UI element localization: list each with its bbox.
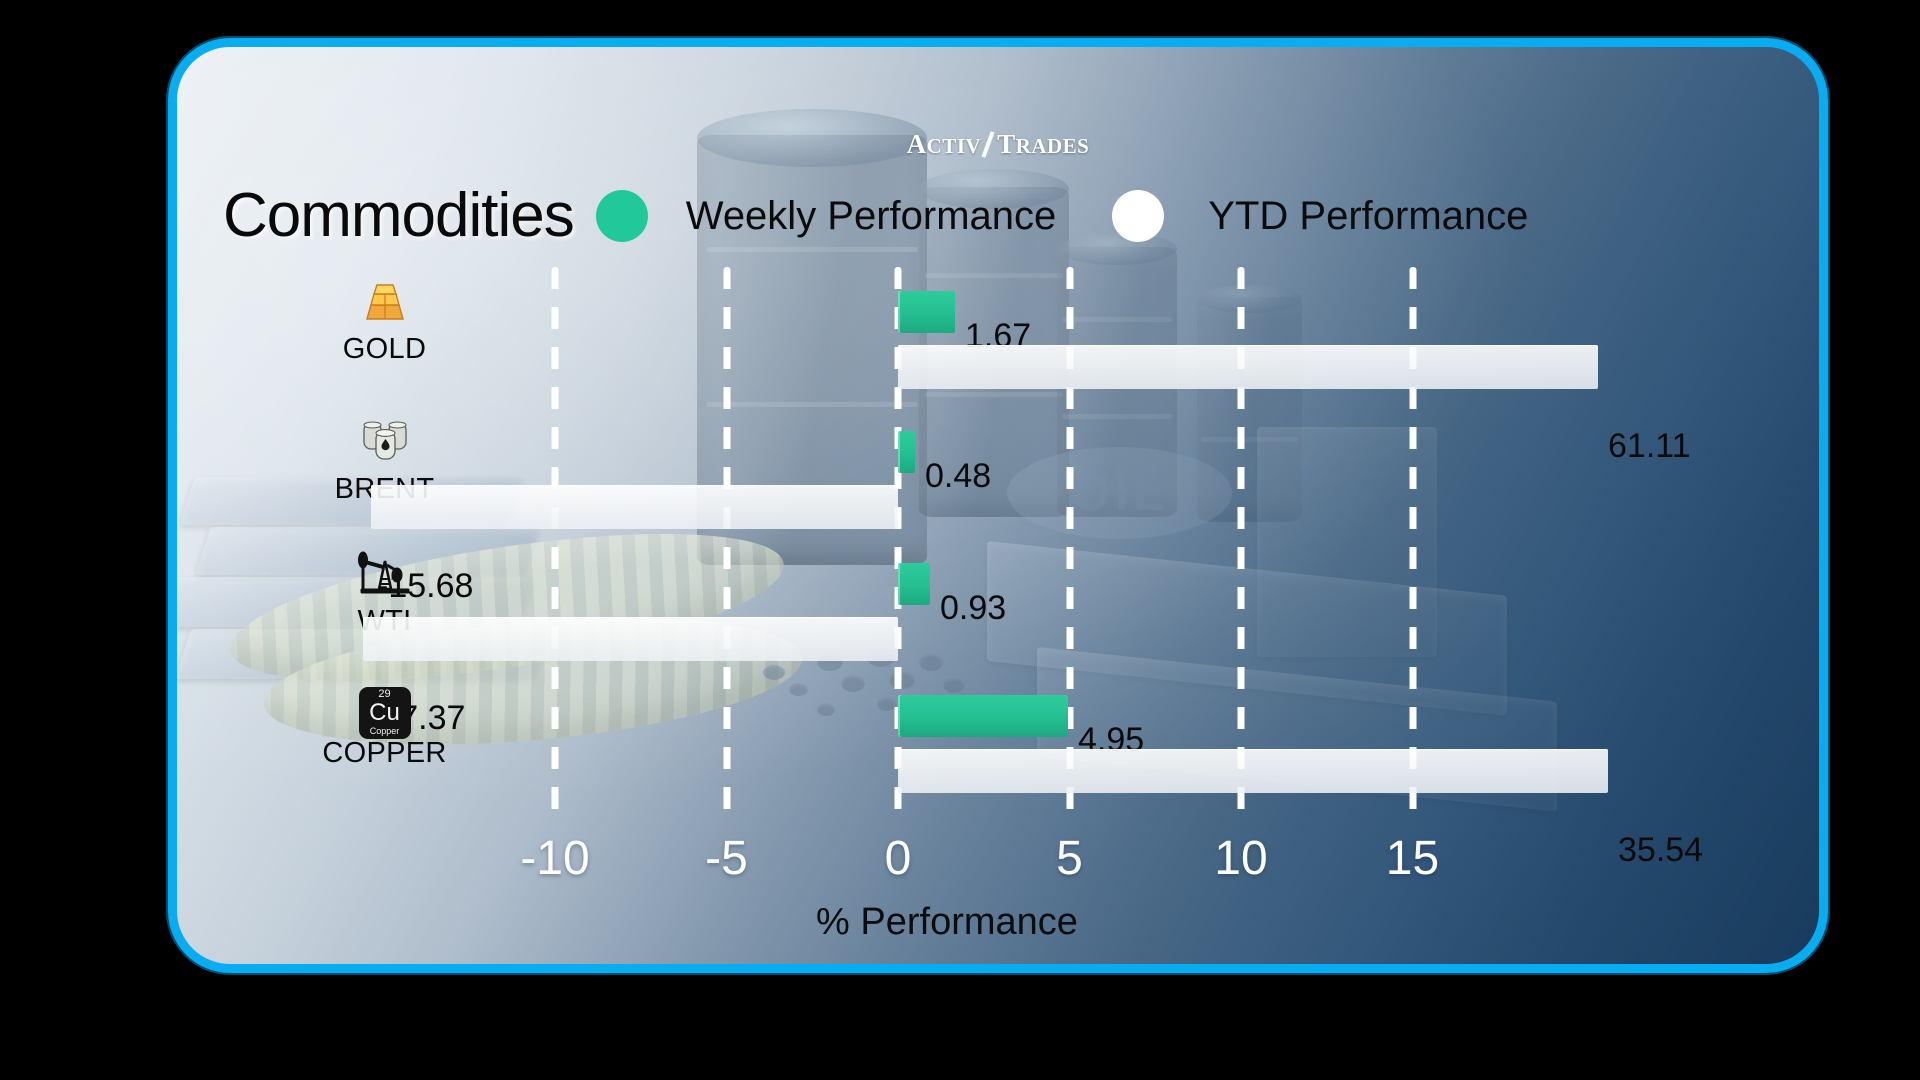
bar-weekly-wti[interactable]: 0.93	[898, 563, 930, 605]
commodities-performance-card: OIL A	[168, 38, 1828, 973]
row-label-copper: 29 Cu Copper COPPER	[277, 681, 492, 768]
oil-pump-svg	[357, 549, 413, 595]
chart-row-brent: BRENT 0.48 -15.68	[177, 407, 1819, 547]
bar-ytd-brent[interactable]: -15.68	[371, 485, 898, 529]
row-label-gold: GOLD	[277, 277, 492, 364]
legend-item-ytd[interactable]: YTD Performance	[1056, 190, 1528, 242]
oil-barrels-svg	[359, 417, 411, 463]
x-tick-10: 10	[1214, 835, 1267, 883]
logo-text-rades: RADES	[1016, 134, 1090, 158]
activtrades-logo: ACTIVTRADES	[177, 131, 1819, 158]
page-title: Commodities	[223, 185, 574, 247]
x-axis-label: % Performance	[177, 903, 1717, 941]
bar-weekly-brent[interactable]: 0.48	[898, 431, 915, 473]
bar-ytd-gold[interactable]: 61.11	[898, 345, 1598, 389]
bar-weekly-gold[interactable]: 1.67	[898, 291, 955, 333]
legend-item-weekly[interactable]: Weekly Performance	[574, 190, 1057, 242]
gold-bars-icon	[277, 277, 492, 333]
row-name-gold: GOLD	[277, 335, 492, 364]
logo-letter-t: T	[997, 129, 1016, 159]
row-name-copper: COPPER	[277, 739, 492, 768]
chart-header: Commodities Weekly Performance YTD Perfo…	[177, 185, 1819, 247]
oil-pump-icon	[277, 549, 492, 605]
chart-row-wti: WTI 0.93 -17.37	[177, 539, 1819, 679]
chart-row-gold: GOLD 1.67 61.11	[177, 267, 1819, 407]
legend-label-ytd: YTD Performance	[1208, 196, 1528, 236]
screenshot-stage: OIL A	[0, 0, 1920, 1080]
copper-element-icon: 29 Cu Copper	[277, 681, 492, 737]
x-axis-ticks: -10-5051015	[177, 835, 1819, 897]
copper-symbol: Cu	[359, 701, 411, 725]
x-tick-neg5: -5	[705, 835, 748, 883]
bar-ytd-copper[interactable]: 35.54	[898, 749, 1608, 793]
bar-value-weekly-brent: 0.48	[925, 459, 991, 493]
chart-row-copper: 29 Cu Copper COPPER 4.95 35.54	[177, 671, 1819, 811]
logo-text-ctiv: CTIV	[927, 134, 982, 158]
logo-letter-a: A	[907, 129, 927, 159]
gold-bars-svg	[359, 281, 411, 321]
x-tick-neg10: -10	[520, 835, 589, 883]
bar-ytd-wti[interactable]: -17.37	[363, 617, 898, 661]
legend-label-weekly: Weekly Performance	[686, 196, 1057, 236]
x-tick-5: 5	[1056, 835, 1083, 883]
green-circle-icon	[596, 190, 648, 242]
x-tick-0: 0	[885, 835, 912, 883]
x-tick-15: 15	[1386, 835, 1439, 883]
bar-value-weekly-wti: 0.93	[940, 591, 1006, 625]
white-circle-icon	[1112, 190, 1164, 242]
copper-element-name: Copper	[359, 727, 411, 736]
bar-weekly-copper[interactable]: 4.95	[898, 695, 1068, 737]
oil-barrels-icon	[277, 417, 492, 473]
logo-slash-icon	[982, 131, 998, 157]
bar-chart-plot-area: GOLD 1.67 61.11	[177, 267, 1819, 827]
copper-periodic-tile: 29 Cu Copper	[359, 687, 411, 739]
